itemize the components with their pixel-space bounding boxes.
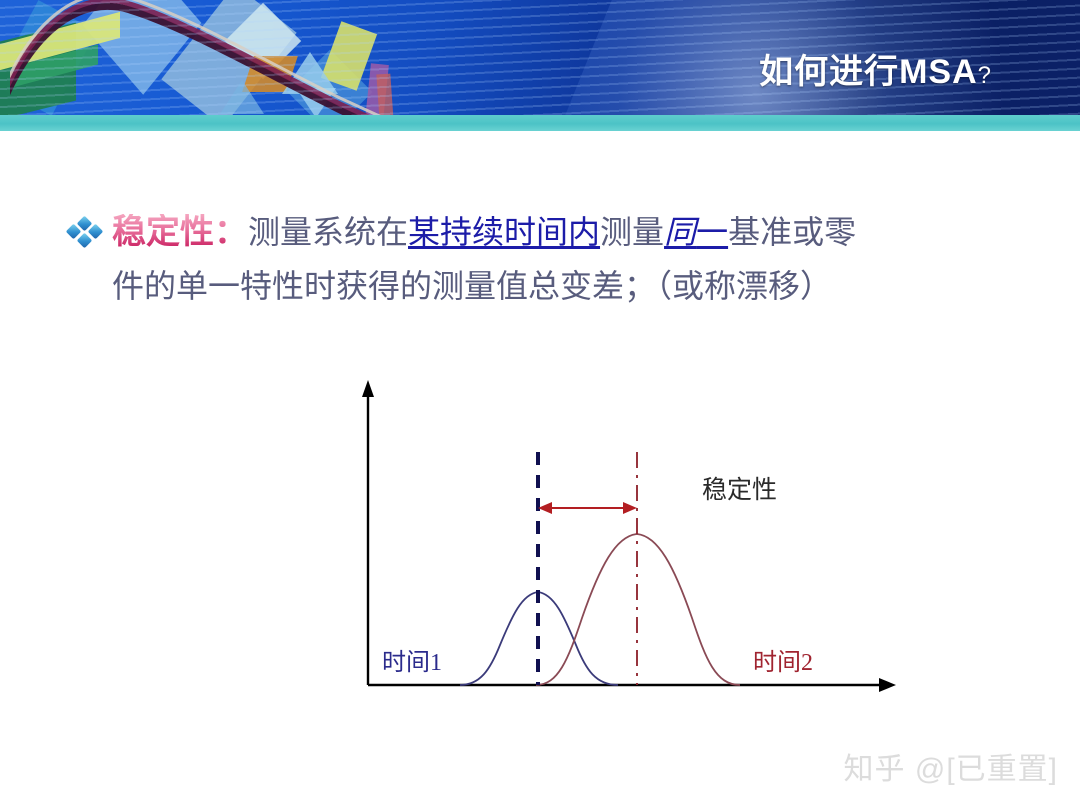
header-decor-triangle-3 [296,88,336,115]
definition-underlined-one: 一 [696,214,728,250]
definition-plain-2: 测量 [600,214,664,250]
zhihu-watermark: 知乎 @[已重置] [844,744,1058,788]
header-decor-red-shape [376,74,393,115]
slide-header-banner: 如何进行MSA? [0,0,1080,115]
time1-series-label: 时间1 [382,642,442,677]
page-title-question-mark: ? [978,62,992,89]
stability-annotation-label: 稳定性 [702,470,777,506]
x-axis [368,678,896,692]
definition-term: 稳定性： [112,214,248,251]
slide-canvas: 如何进行MSA? 稳定性：测量系统在某持续时间内测量同一基准或零 件的单一特性时… [0,0,1080,810]
y-axis [362,380,374,685]
definition-plain-3: 基准或零 [728,214,856,250]
stability-diagram: 时间1 时间2 稳定性 [340,370,940,700]
definition-line-2: 件的单一特性时获得的测量值总变差；（或称漂移） [112,262,832,311]
definition-underlined-duration: 某持续时间内 [408,214,600,250]
definition-italic-same: 同 [664,214,696,250]
definition-plain-1: 测量系统在 [248,214,408,250]
diamond-cluster-bullet-icon [68,222,102,252]
time2-series-label: 时间2 [753,642,813,677]
time2-distribution-curve [536,534,740,685]
definition-line-1: 稳定性：测量系统在某持续时间内测量同一基准或零 [112,208,856,257]
header-teal-divider [0,115,1080,131]
page-title: 如何进行MSA? [759,44,992,93]
page-title-text: 如何进行MSA [759,53,978,91]
header-decor-triangle-2 [220,80,264,114]
stability-span-arrow [538,502,637,514]
